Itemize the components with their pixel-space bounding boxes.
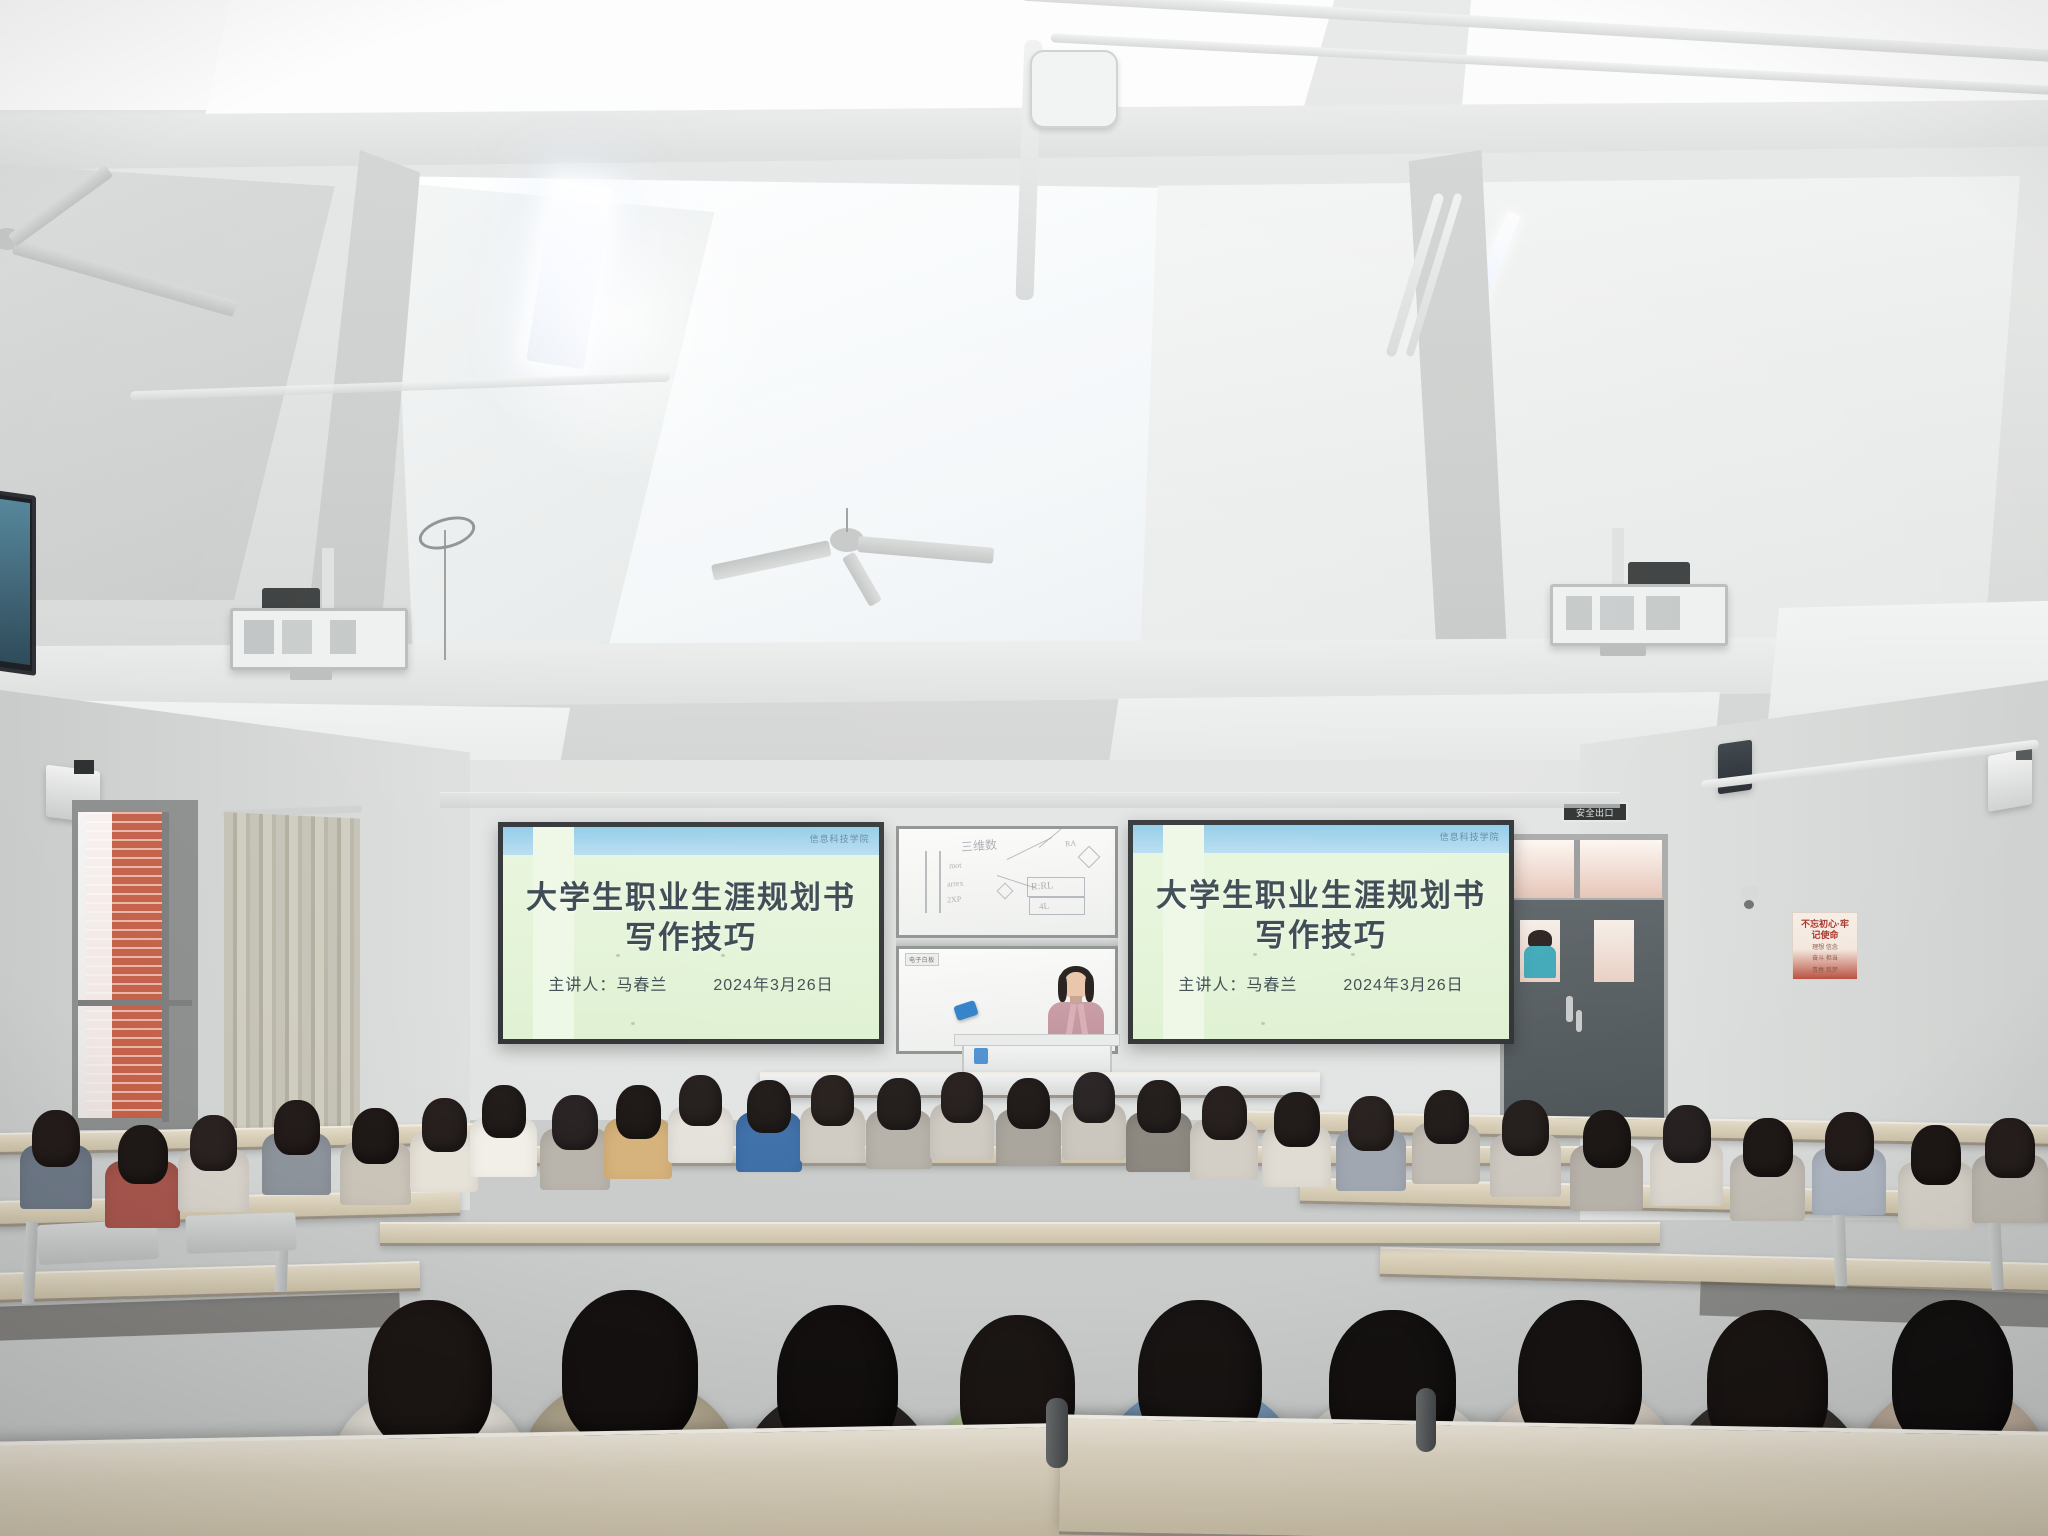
front-row-member-hair xyxy=(368,1300,492,1450)
bench-armrest xyxy=(1416,1388,1436,1452)
foreground-bench xyxy=(1059,1414,2048,1536)
front-row-member-hair xyxy=(562,1290,698,1446)
foreground-bench xyxy=(0,1421,1161,1536)
bench-armrest xyxy=(1046,1398,1068,1468)
front-row-audience: house® xyxy=(0,0,2048,1536)
classroom-photo: 安全出口 不忘初心·牢记使命 理想 信念 奋斗 担当 青春 筑梦 信息科技学院 … xyxy=(0,0,2048,1536)
front-row-member-hair xyxy=(1892,1300,2013,1450)
